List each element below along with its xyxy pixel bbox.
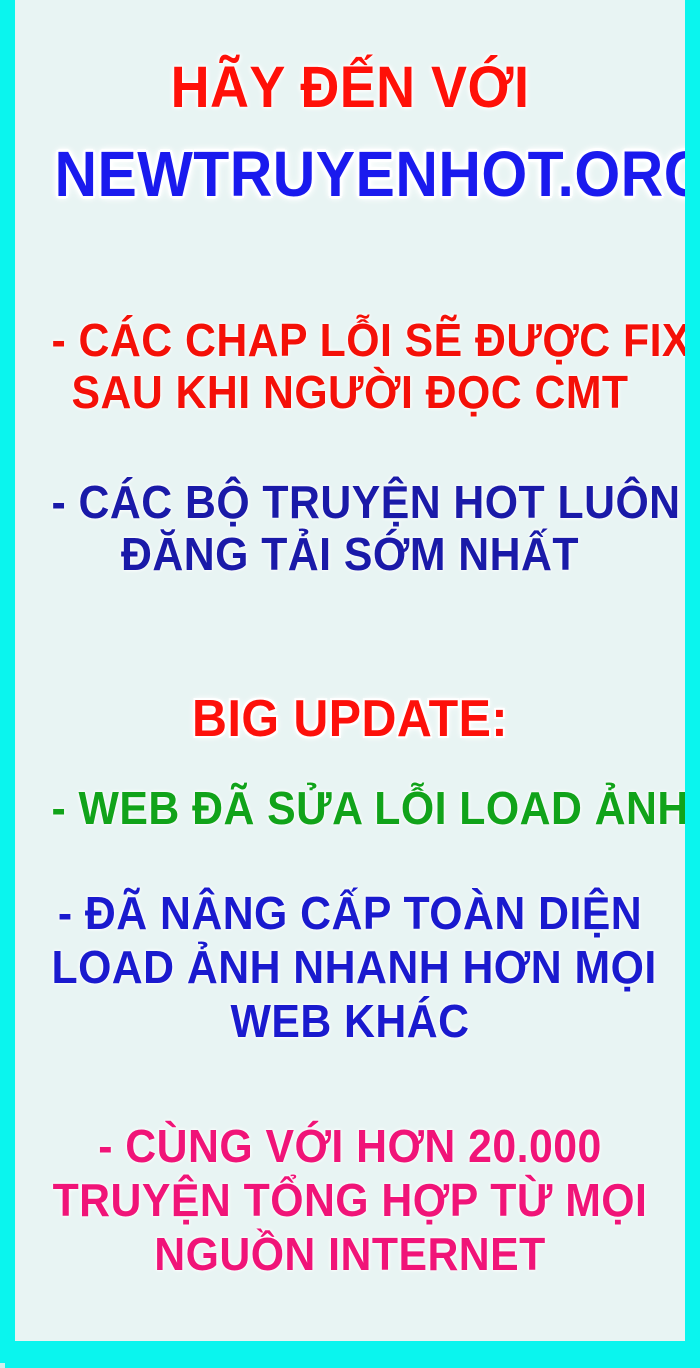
update-library-size-line-3: NGUỒN INTERNET	[51, 1230, 648, 1279]
update-library-size-line-2: TRUYỆN TỔNG HỢP TỪ MỌI	[51, 1176, 648, 1225]
site-domain-heading[interactable]: NEWTRUYENHOT.ORG	[18, 141, 681, 209]
update-full-upgrade-line-2: LOAD ẢNH NHANH HƠN MỌI	[51, 943, 648, 992]
notice-chap-fix-line-2: SAU KHI NGƯỜI ĐỌC CMT	[51, 368, 648, 417]
greeting-heading: HÃY ĐẾN VỚI	[15, 57, 685, 118]
update-full-upgrade-line-1: - ĐÃ NÂNG CẤP TOÀN DIỆN	[51, 889, 648, 938]
update-full-upgrade: - ĐÃ NÂNG CẤP TOÀN DIỆN LOAD ẢNH NHANH H…	[15, 889, 685, 1045]
big-update-heading: BIG UPDATE:	[15, 692, 685, 747]
update-library-size: - CÙNG VỚI HƠN 20.000 TRUYỆN TỔNG HỢP TỪ…	[15, 1122, 685, 1278]
update-image-load-fixed: - WEB ĐÃ SỬA LỖI LOAD ẢNH	[15, 784, 685, 833]
promo-poster: HÃY ĐẾN VỚI NEWTRUYENHOT.ORG - CÁC CHAP …	[0, 0, 700, 1368]
notice-chap-fix: - CÁC CHAP LỖI SẼ ĐƯỢC FIX SAU KHI NGƯỜI…	[15, 316, 685, 417]
notice-hot-series-line-1: - CÁC BỘ TRUYỆN HOT LUÔN	[51, 478, 648, 527]
bottom-left-notch	[0, 1363, 5, 1368]
content-panel: HÃY ĐẾN VỚI NEWTRUYENHOT.ORG - CÁC CHAP …	[15, 0, 685, 1341]
notice-hot-series-line-2: ĐĂNG TẢI SỚM NHẤT	[51, 530, 648, 579]
update-image-load-fixed-line-1: - WEB ĐÃ SỬA LỖI LOAD ẢNH	[51, 784, 648, 833]
big-update-heading-text: BIG UPDATE:	[51, 692, 648, 747]
notice-hot-series: - CÁC BỘ TRUYỆN HOT LUÔN ĐĂNG TẢI SỚM NH…	[15, 478, 685, 579]
greeting-line: HÃY ĐẾN VỚI	[51, 57, 648, 118]
site-domain-text: NEWTRUYENHOT.ORG	[54, 141, 645, 209]
update-full-upgrade-line-3: WEB KHÁC	[51, 997, 648, 1046]
notice-chap-fix-line-1: - CÁC CHAP LỖI SẼ ĐƯỢC FIX	[51, 316, 648, 365]
update-library-size-line-1: - CÙNG VỚI HƠN 20.000	[51, 1122, 648, 1171]
